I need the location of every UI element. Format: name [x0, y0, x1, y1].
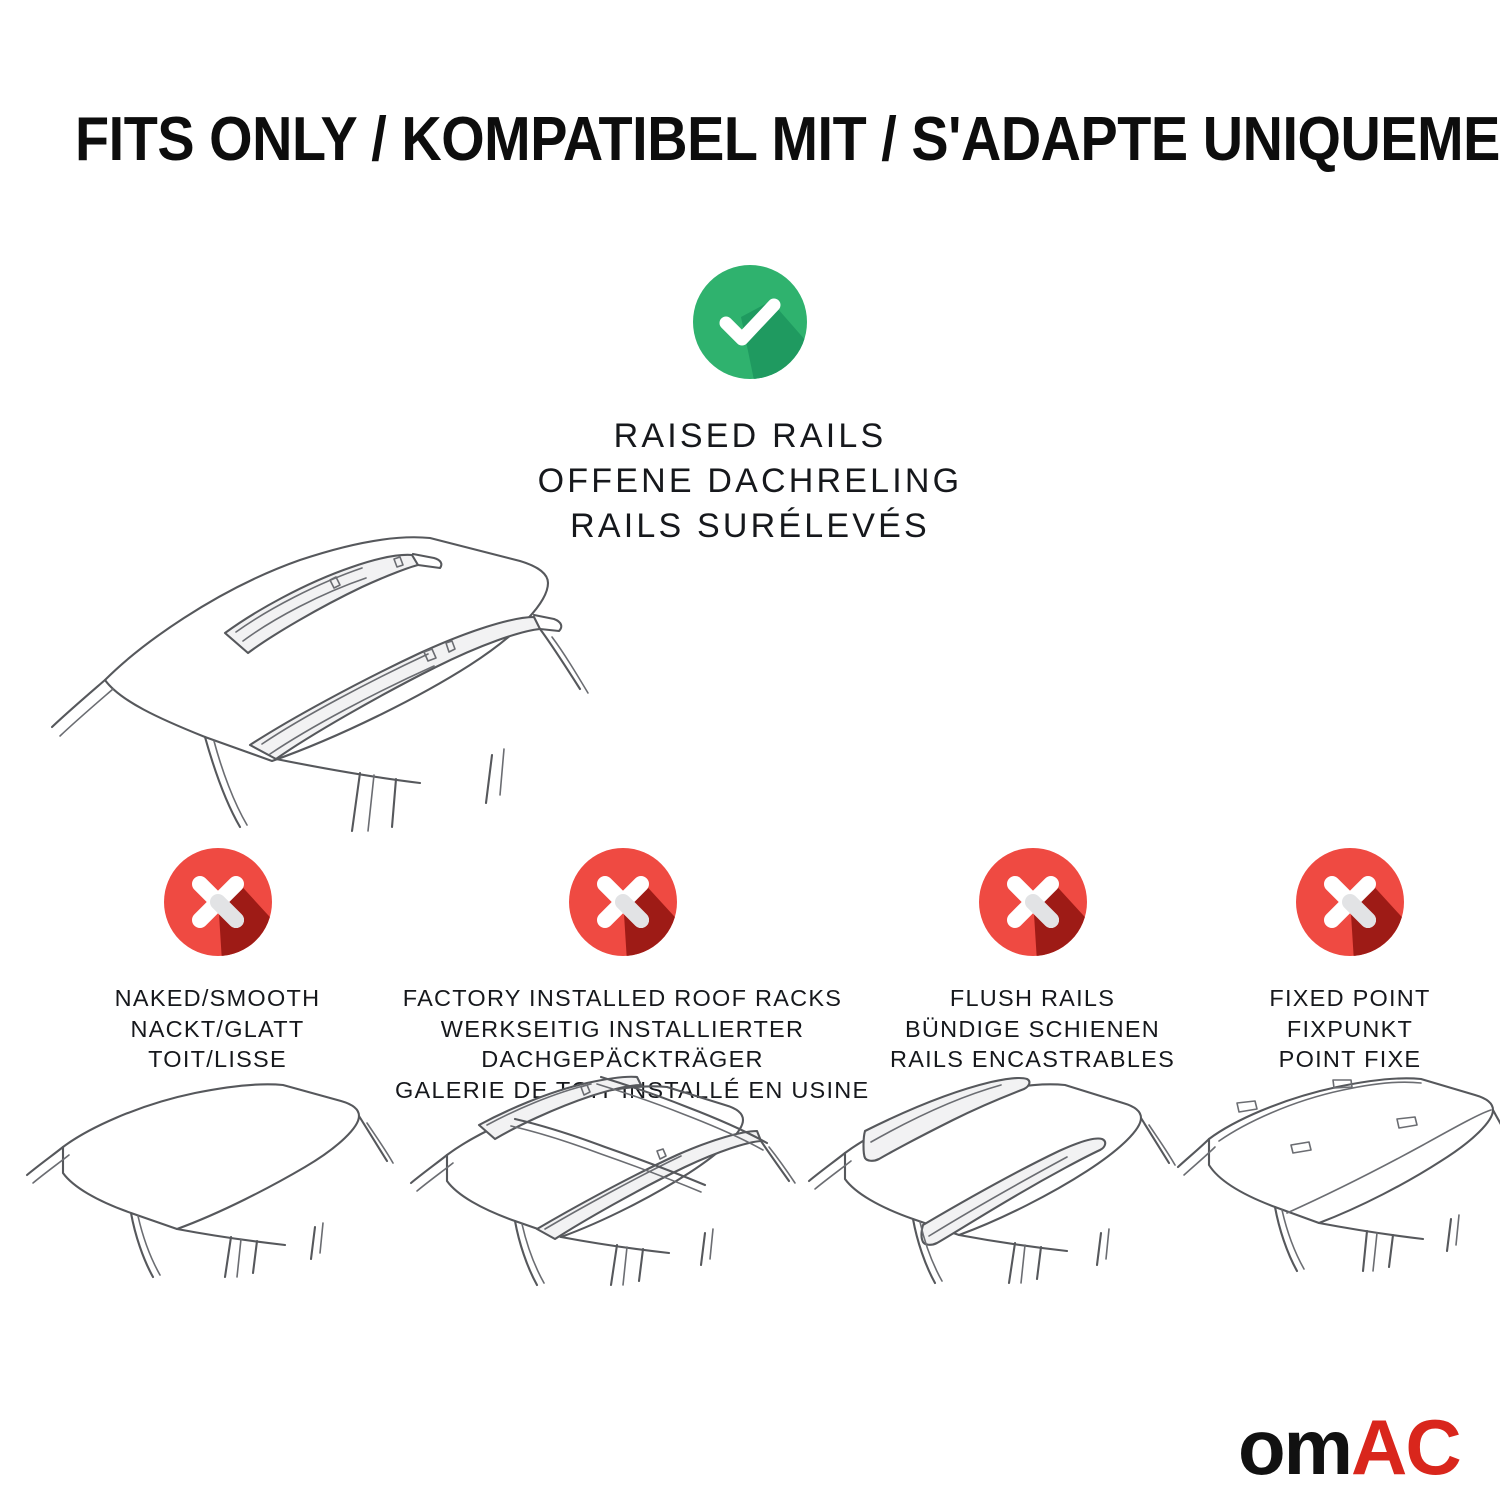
denied-illustrations-row — [0, 1063, 1500, 1298]
raised-rails-illustration — [0, 505, 1500, 835]
logo-text-dark: om — [1238, 1403, 1351, 1491]
denied-labels: FIXED POINT FIXPUNKT POINT FIXE — [1205, 983, 1495, 1075]
factory-roof-rack-illustration — [405, 1063, 805, 1298]
approved-label-de: OFFENE DACHRELING — [0, 459, 1500, 504]
denied-item-naked-smooth: NAKED/SMOOTH NACKT/GLATT TOIT/LISSE — [40, 848, 395, 1075]
denied-label-de: FIXPUNKT — [1205, 1014, 1495, 1045]
denied-labels: NAKED/SMOOTH NACKT/GLATT TOIT/LISSE — [40, 983, 395, 1075]
x-circle-icon — [1296, 848, 1404, 956]
x-circle-icon — [164, 848, 272, 956]
flush-rails-illustration — [805, 1063, 1205, 1298]
logo-text-red: AC — [1351, 1403, 1460, 1491]
approved-label-en: RAISED RAILS — [0, 414, 1500, 459]
denied-label-de: NACKT/GLATT — [40, 1014, 395, 1045]
denied-label-en: FACTORY INSTALLED ROOF RACKS — [395, 983, 850, 1014]
naked-smooth-illustration — [25, 1063, 415, 1293]
x-circle-icon — [569, 848, 677, 956]
denied-row: NAKED/SMOOTH NACKT/GLATT TOIT/LISSE — [0, 848, 1500, 1078]
denied-item-flush-rails: FLUSH RAILS BÜNDIGE SCHIENEN RAILS ENCAS… — [855, 848, 1210, 1075]
x-circle-icon — [979, 848, 1087, 956]
denied-label-de: BÜNDIGE SCHIENEN — [855, 1014, 1210, 1045]
fixed-point-illustration — [1175, 1063, 1500, 1298]
denied-label-en: FLUSH RAILS — [855, 983, 1210, 1014]
denied-label-en: NAKED/SMOOTH — [40, 983, 395, 1014]
omac-logo: omAC — [1238, 1408, 1460, 1486]
denied-labels: FLUSH RAILS BÜNDIGE SCHIENEN RAILS ENCAS… — [855, 983, 1210, 1075]
page-title: FITS ONLY / KOMPATIBEL MIT / S'ADAPTE UN… — [75, 104, 1425, 175]
infographic-page: FITS ONLY / KOMPATIBEL MIT / S'ADAPTE UN… — [0, 0, 1500, 1500]
check-circle-icon — [693, 265, 807, 379]
denied-item-fixed-point: FIXED POINT FIXPUNKT POINT FIXE — [1205, 848, 1495, 1075]
denied-label-en: FIXED POINT — [1205, 983, 1495, 1014]
denied-label-de-1: WERKSEITIG INSTALLIERTER — [395, 1014, 850, 1045]
